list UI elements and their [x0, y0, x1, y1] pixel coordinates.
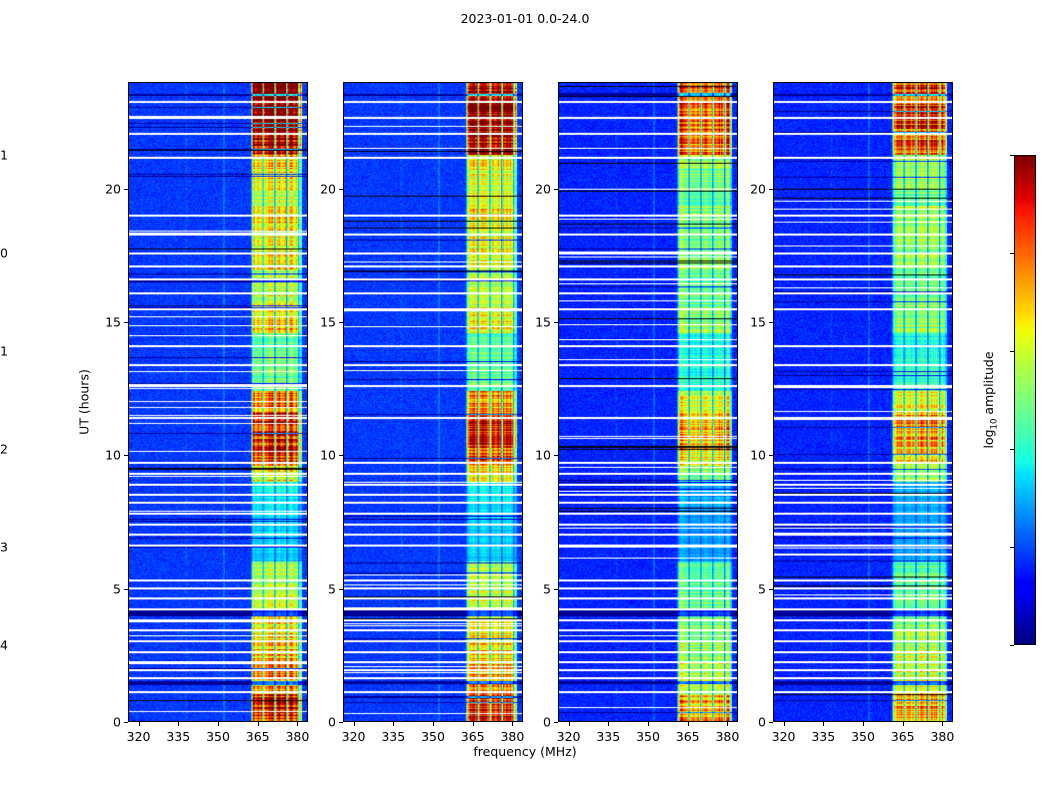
- y-tick-label: 5: [518, 581, 551, 596]
- x-tick-mark: [688, 722, 689, 726]
- x-axis-label: frequency (MHz): [0, 744, 1050, 759]
- y-tick-label: 0: [303, 715, 336, 730]
- x-tick-label: 380: [285, 729, 309, 744]
- x-tick-label: 350: [851, 729, 875, 744]
- x-tick-label: 320: [127, 729, 151, 744]
- y-tick-label: 10: [733, 448, 766, 463]
- x-tick-mark: [569, 722, 570, 726]
- x-tick-label: 335: [811, 729, 835, 744]
- y-tick-label: 15: [303, 315, 336, 330]
- y-tick-label: 5: [733, 581, 766, 596]
- x-tick-label: 365: [246, 729, 270, 744]
- x-tick-mark: [139, 722, 140, 726]
- y-tick-mark: [339, 322, 343, 323]
- y-tick-label: 5: [88, 581, 121, 596]
- y-tick-label: 15: [88, 315, 121, 330]
- x-tick-label: 365: [891, 729, 915, 744]
- x-tick-mark: [512, 722, 513, 726]
- x-tick-mark: [218, 722, 219, 726]
- colorbar-gradient: [1015, 156, 1035, 644]
- colorbar-tick-label: -1: [0, 344, 8, 359]
- x-tick-label: 335: [596, 729, 620, 744]
- colorbar-tick-mark: [1010, 547, 1014, 548]
- colorbar-tick-label: 0: [0, 246, 8, 261]
- figure-suptitle: 2023-01-01 0.0-24.0: [0, 11, 1050, 26]
- y-tick-mark: [124, 455, 128, 456]
- y-tick-mark: [124, 322, 128, 323]
- y-tick-mark: [124, 589, 128, 590]
- x-tick-mark: [823, 722, 824, 726]
- y-tick-mark: [769, 322, 773, 323]
- y-tick-label: 10: [88, 448, 121, 463]
- x-tick-mark: [258, 722, 259, 726]
- y-axis-label: UT (hours): [77, 369, 92, 435]
- y-tick-mark: [339, 722, 343, 723]
- colorbar-tick-mark: [1010, 253, 1014, 254]
- y-tick-mark: [554, 189, 558, 190]
- x-tick-label: 350: [421, 729, 445, 744]
- y-tick-label: 20: [303, 181, 336, 196]
- y-tick-mark: [554, 589, 558, 590]
- x-tick-mark: [473, 722, 474, 726]
- y-tick-mark: [339, 455, 343, 456]
- x-tick-label: 320: [772, 729, 796, 744]
- y-tick-label: 0: [733, 715, 766, 730]
- y-tick-mark: [769, 455, 773, 456]
- x-tick-mark: [178, 722, 179, 726]
- x-tick-label: 380: [715, 729, 739, 744]
- x-tick-label: 350: [206, 729, 230, 744]
- x-tick-label: 320: [557, 729, 581, 744]
- x-tick-label: 335: [166, 729, 190, 744]
- y-tick-label: 15: [518, 315, 551, 330]
- x-tick-mark: [608, 722, 609, 726]
- y-tick-mark: [339, 189, 343, 190]
- y-tick-label: 20: [518, 181, 551, 196]
- y-tick-mark: [554, 722, 558, 723]
- x-tick-mark: [903, 722, 904, 726]
- y-tick-mark: [339, 589, 343, 590]
- x-tick-mark: [433, 722, 434, 726]
- colorbar-tick-mark: [1010, 449, 1014, 450]
- x-tick-mark: [297, 722, 298, 726]
- figure-canvas: 2023-01-01 0.0-24.0 XX, V9*V10=EA02*EA01…: [0, 0, 1050, 800]
- x-tick-mark: [784, 722, 785, 726]
- colorbar[interactable]: [1014, 155, 1036, 645]
- x-tick-mark: [648, 722, 649, 726]
- x-tick-mark: [942, 722, 943, 726]
- y-tick-label: 20: [733, 181, 766, 196]
- heatmap-panel-xx[interactable]: XX, V9*V10=EA02*EA01: [128, 82, 308, 722]
- x-tick-mark: [727, 722, 728, 726]
- waterfall-image-xy: [559, 83, 737, 721]
- y-tick-mark: [769, 589, 773, 590]
- x-tick-mark: [393, 722, 394, 726]
- colorbar-tick-label: 1: [0, 148, 8, 163]
- colorbar-tick-mark: [1010, 351, 1014, 352]
- x-tick-label: 320: [342, 729, 366, 744]
- y-tick-label: 0: [518, 715, 551, 730]
- y-tick-label: 0: [88, 715, 121, 730]
- colorbar-tick-mark: [1010, 645, 1014, 646]
- y-tick-mark: [554, 455, 558, 456]
- y-tick-label: 15: [733, 315, 766, 330]
- x-tick-label: 335: [381, 729, 405, 744]
- x-tick-label: 365: [461, 729, 485, 744]
- waterfall-image-xx: [129, 83, 307, 721]
- x-tick-label: 380: [930, 729, 954, 744]
- x-tick-label: 365: [676, 729, 700, 744]
- waterfall-image-yy: [344, 83, 522, 721]
- colorbar-tick-mark: [1010, 155, 1014, 156]
- heatmap-panel-yy[interactable]: YY, V9*V10=EA02*EA01: [343, 82, 523, 722]
- colorbar-tick-label: -2: [0, 442, 8, 457]
- waterfall-image-yx: [774, 83, 952, 721]
- x-tick-label: 380: [500, 729, 524, 744]
- y-tick-label: 5: [303, 581, 336, 596]
- y-tick-mark: [769, 722, 773, 723]
- y-tick-mark: [769, 189, 773, 190]
- colorbar-label: log10 amplitude: [981, 351, 1000, 448]
- y-tick-label: 10: [303, 448, 336, 463]
- y-tick-mark: [124, 722, 128, 723]
- colorbar-tick-label: -3: [0, 540, 8, 555]
- x-tick-mark: [354, 722, 355, 726]
- y-tick-mark: [124, 189, 128, 190]
- x-tick-label: 350: [636, 729, 660, 744]
- y-tick-label: 20: [88, 181, 121, 196]
- x-tick-mark: [863, 722, 864, 726]
- y-tick-label: 10: [518, 448, 551, 463]
- colorbar-tick-label: -4: [0, 638, 8, 653]
- heatmap-panel-yx[interactable]: YX, V9*V10=EA02*EA01: [773, 82, 953, 722]
- heatmap-panel-xy[interactable]: XY, V9*V10=EA02*EA01: [558, 82, 738, 722]
- y-tick-mark: [554, 322, 558, 323]
